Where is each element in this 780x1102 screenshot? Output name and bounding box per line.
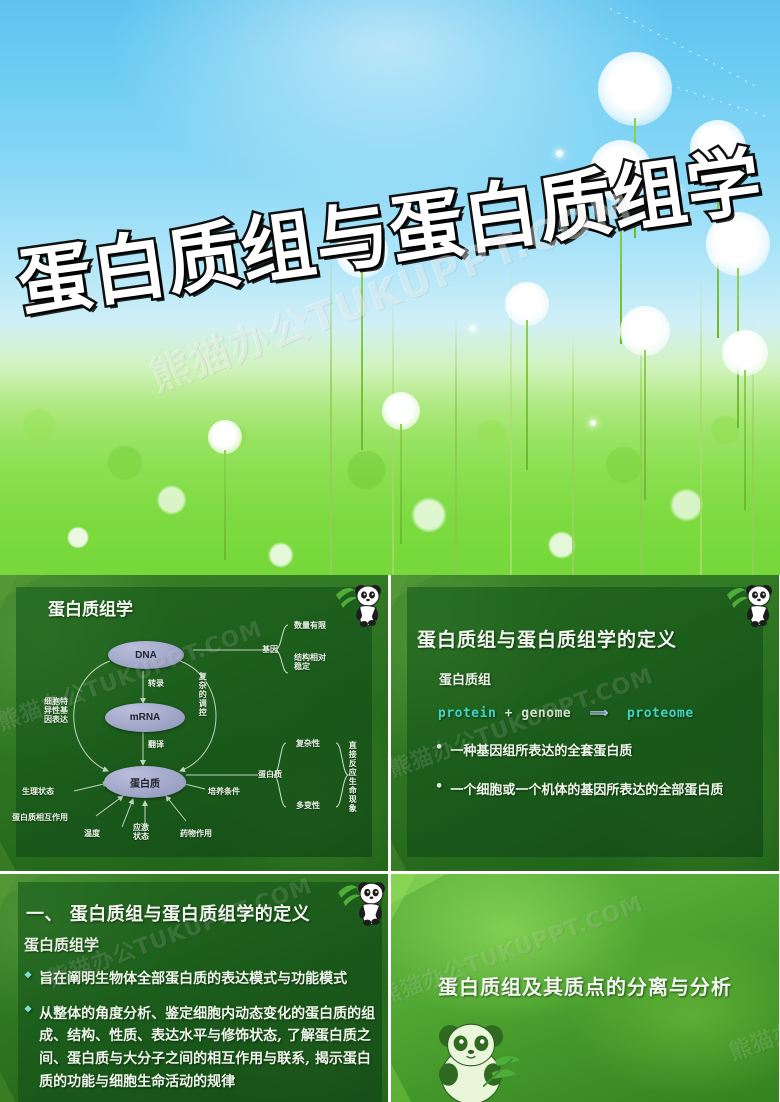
slide-definition-proteome[interactable]: 蛋白质组与蛋白质组学的定义 蛋白质组 protein + genome ⟹ pr…: [391, 575, 779, 871]
diagram-node-mrna: mRNA: [105, 703, 185, 732]
dandelion-icon: [208, 420, 242, 454]
diagram-node-protein: 蛋白质: [104, 766, 186, 798]
light-spark: [556, 150, 563, 157]
light-spark: [590, 420, 596, 426]
presentation-preview-page: 蛋白质组与蛋白质组学 熊猫办公TUKUPPT.COM 蛋白质组学: [0, 0, 780, 1102]
list-item-text: 一种基因组所表达的全套蛋白质: [450, 740, 632, 759]
bullet-list: ❖ 旨在阐明生物体全部蛋白质的表达模式与功能模式 ❖ 从整体的角度分析、鉴定细胞…: [24, 969, 380, 1093]
edge-label-translation: 翻译: [148, 740, 164, 749]
slide-title: 一、 蛋白质组与蛋白质组学的定义: [26, 900, 310, 926]
factor-physiological-state: 生理状态: [22, 787, 54, 796]
slide-separation-analysis[interactable]: 蛋白质组及其质点的分离与分析 熊猫办公TUKUPPT.COM: [391, 874, 779, 1102]
equation-left: protein: [438, 706, 496, 721]
branch-item-complexity: 复杂性: [296, 739, 320, 748]
list-item-text: 旨在阐明生物体全部蛋白质的表达模式与功能模式: [39, 969, 347, 991]
node-label: DNA: [135, 650, 157, 661]
panda-icon: [332, 876, 386, 930]
bullet-list: • 一种基因组所表达的全套蛋白质 • 一个细胞或一个机体的基因所表达的全部蛋白质: [435, 740, 765, 798]
list-item-text: 一个细胞或一个机体的基因所表达的全部蛋白质: [450, 779, 723, 798]
bullet-dot-icon: •: [435, 740, 443, 755]
slide-title: 蛋白质组与蛋白质组学的定义: [417, 625, 677, 652]
proteome-equation: protein + genome ⟹ proteome: [438, 706, 694, 721]
slide-title: 蛋白质组及其质点的分离与分析: [438, 971, 732, 1000]
branch-item-gene-limited: 数量有限: [294, 621, 326, 630]
hero-title-slide[interactable]: 蛋白质组与蛋白质组学 熊猫办公TUKUPPT.COM: [0, 0, 780, 575]
equation-right: proteome: [627, 706, 694, 721]
node-label: mRNA: [130, 712, 161, 723]
list-item-text: 从整体的角度分析、鉴定细胞内动态变化的蛋白质的组成、结构、性质、表达水平与修饰状…: [39, 1003, 380, 1094]
slide-subtitle: 蛋白质组: [439, 669, 491, 688]
edge-label-transcription: 转录: [148, 679, 164, 688]
factor-protein-interaction: 蛋白质相互作用: [12, 813, 68, 822]
dandelion-icon: [722, 330, 768, 376]
diamond-bullet-icon: ❖: [24, 969, 32, 983]
dandelion-icon: [620, 306, 670, 356]
branch-root-protein: 蛋白质: [258, 770, 282, 779]
list-item: ❖ 从整体的角度分析、鉴定细胞内动态变化的蛋白质的组成、结构、性质、表达水平与修…: [24, 1003, 380, 1094]
node-label: 蛋白质: [130, 775, 160, 790]
light-spark: [470, 326, 475, 331]
factor-stress-state: 应激 状态: [133, 823, 149, 841]
slide-thumbnail-grid: 蛋白质组学: [0, 575, 780, 1102]
list-item: • 一种基因组所表达的全套蛋白质: [435, 740, 765, 759]
edge-label-cell-specific-expression: 细胞特 异性基 因表达: [44, 697, 68, 725]
slide-definition-proteomics[interactable]: 一、 蛋白质组与蛋白质组学的定义 蛋白质组学 ❖ 旨在阐明生物体全部蛋白质的表达…: [0, 874, 388, 1102]
diamond-bullet-icon: ❖: [24, 1003, 32, 1017]
list-item: ❖ 旨在阐明生物体全部蛋白质的表达模式与功能模式: [24, 969, 380, 991]
equation-mid: genome: [521, 706, 571, 721]
panda-icon: [419, 1010, 523, 1102]
dandelion-icon: [382, 392, 420, 430]
branch-root-gene: 基因: [262, 645, 278, 654]
factor-culture-conditions: 培养条件: [208, 787, 240, 796]
branch-conclusion-life-phenomena: 直接反应生命现象: [348, 741, 357, 813]
dandelion-icon: [598, 52, 672, 126]
diagram-node-dna: DNA: [108, 641, 184, 669]
equation-arrow-icon: ⟹: [580, 706, 619, 721]
light-spark: [716, 256, 722, 262]
factor-drug-effect: 药物作用: [180, 829, 212, 838]
bullet-dot-icon: •: [435, 779, 443, 794]
slide-proteomics-diagram[interactable]: 蛋白质组学: [0, 575, 388, 871]
dandelion-icon: [505, 282, 549, 326]
panda-icon: [721, 579, 773, 631]
panda-icon: [330, 579, 382, 631]
list-item: • 一个细胞或一个机体的基因所表达的全部蛋白质: [435, 779, 765, 798]
slide-subtitle: 蛋白质组学: [24, 934, 99, 955]
edge-label-complex-regulation: 复杂的调控: [198, 672, 207, 717]
branch-item-gene-stable: 结构相对 稳定: [294, 653, 326, 671]
branch-item-variability: 多变性: [296, 801, 320, 810]
equation-plus: +: [505, 706, 513, 721]
factor-temperature: 温度: [84, 829, 100, 838]
